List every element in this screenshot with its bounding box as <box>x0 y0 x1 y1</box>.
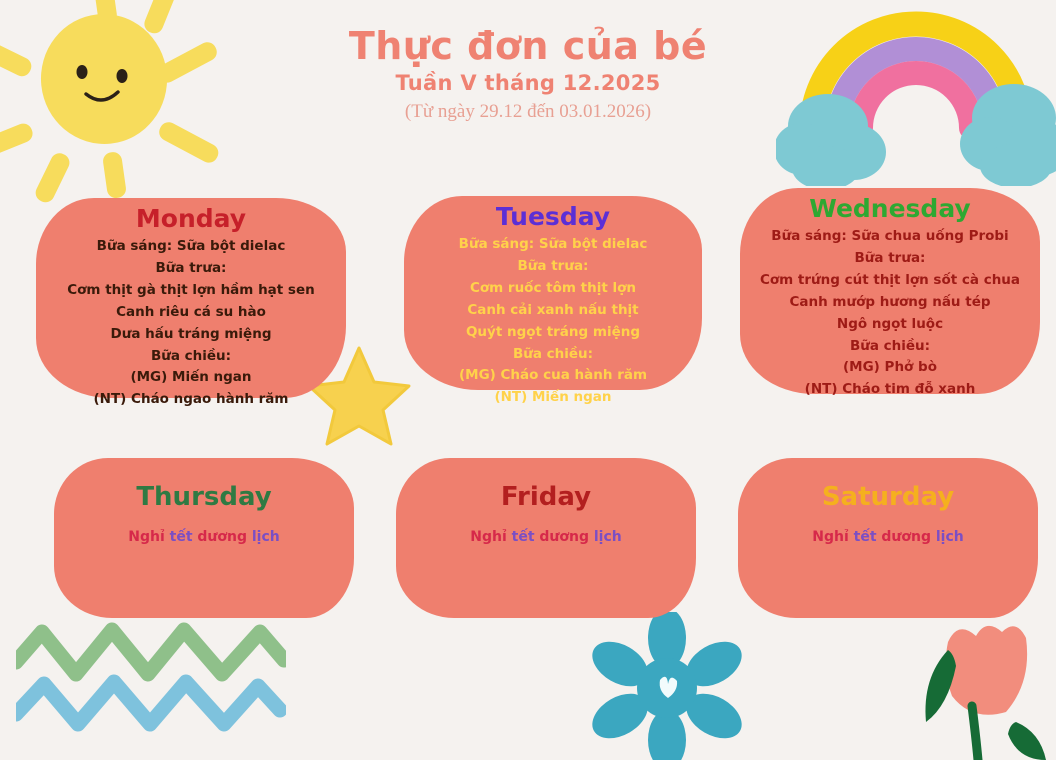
menu-line: Ngô ngọt luộc <box>750 314 1030 336</box>
holiday-word: dương <box>881 529 931 545</box>
holiday-word: Nghỉ <box>128 529 165 545</box>
page-subtitle: Tuần V tháng 12.2025 <box>0 72 1056 95</box>
holiday-note: Nghỉ tết dương lịch <box>748 529 1028 546</box>
holiday-word: tết <box>170 529 193 545</box>
holiday-note: Nghỉ tết dương lịch <box>64 529 344 546</box>
menu-line: Cơm ruốc tôm thịt lợn <box>414 278 692 300</box>
day-card-monday[interactable]: Monday Bữa sáng: Sữa bột dielacBữa trưa:… <box>36 198 346 398</box>
date-range: (Từ ngày 29.12 đến 03.01.2026) <box>0 102 1056 123</box>
day-title: Tuesday <box>414 204 692 230</box>
page-title: Thực đơn của bé <box>0 26 1056 67</box>
day-card-friday[interactable]: Friday Nghỉ tết dương lịch <box>396 458 696 618</box>
menu-line: Bữa sáng: Sữa bột dielac <box>414 234 692 256</box>
menu-list: Bữa sáng: Sữa bột dielacBữa trưa:Cơm thị… <box>46 236 336 411</box>
holiday-word: dương <box>197 529 247 545</box>
menu-line: Quýt ngọt tráng miệng <box>414 322 692 344</box>
menu-line: (MG) Cháo cua hành răm <box>414 365 692 387</box>
menu-line: Bữa trưa: <box>750 248 1030 270</box>
holiday-word: tết <box>512 529 535 545</box>
menu-line: Bữa sáng: Sữa chua uống Probi <box>750 226 1030 248</box>
day-card-tuesday[interactable]: Tuesday Bữa sáng: Sữa bột dielacBữa trưa… <box>404 196 702 390</box>
menu-line: (MG) Miến ngan <box>46 367 336 389</box>
menu-line: Canh cải xanh nấu thịt <box>414 300 692 322</box>
day-card-wednesday[interactable]: Wednesday Bữa sáng: Sữa chua uống ProbiB… <box>740 188 1040 394</box>
holiday-word: Nghỉ <box>470 529 507 545</box>
day-title: Monday <box>46 206 336 232</box>
menu-line: (NT) Miến ngan <box>414 387 692 409</box>
day-title: Friday <box>406 484 686 511</box>
menu-line: (NT) Cháo ngao hành răm <box>46 389 336 411</box>
menu-list: Bữa sáng: Sữa bột dielacBữa trưa:Cơm ruố… <box>414 234 692 409</box>
menu-line: Canh riêu cá su hào <box>46 302 336 324</box>
day-title: Thursday <box>64 484 344 511</box>
menu-line: Bữa chiều: <box>414 344 692 366</box>
menu-line: Bữa chiều: <box>750 336 1030 358</box>
menu-line: Bữa trưa: <box>414 256 692 278</box>
menu-line: Dưa hấu tráng miệng <box>46 324 336 346</box>
menu-poster: Thực đơn của bé Tuần V tháng 12.2025 (Từ… <box>0 0 1056 760</box>
day-title: Saturday <box>748 484 1028 511</box>
holiday-word: lịch <box>936 529 964 545</box>
poster-header: Thực đơn của bé Tuần V tháng 12.2025 (Từ… <box>0 26 1056 123</box>
holiday-word: Nghỉ <box>812 529 849 545</box>
menu-line: Cơm trứng cút thịt lợn sốt cà chua <box>750 270 1030 292</box>
holiday-word: dương <box>539 529 589 545</box>
holiday-word: tết <box>854 529 877 545</box>
menu-line: Bữa trưa: <box>46 258 336 280</box>
holiday-note: Nghỉ tết dương lịch <box>406 529 686 546</box>
menu-line: Canh mướp hương nấu tép <box>750 292 1030 314</box>
menu-line: Bữa chiều: <box>46 346 336 368</box>
holiday-word: lịch <box>252 529 280 545</box>
menu-line: (NT) Cháo tim đỗ xanh <box>750 379 1030 401</box>
menu-line: Bữa sáng: Sữa bột dielac <box>46 236 336 258</box>
menu-line: Cơm thịt gà thịt lợn hầm hạt sen <box>46 280 336 302</box>
menu-line: (MG) Phở bò <box>750 357 1030 379</box>
day-card-saturday[interactable]: Saturday Nghỉ tết dương lịch <box>738 458 1038 618</box>
day-title: Wednesday <box>750 196 1030 222</box>
day-card-thursday[interactable]: Thursday Nghỉ tết dương lịch <box>54 458 354 618</box>
holiday-word: lịch <box>594 529 622 545</box>
menu-list: Bữa sáng: Sữa chua uống ProbiBữa trưa:Cơ… <box>750 226 1030 401</box>
